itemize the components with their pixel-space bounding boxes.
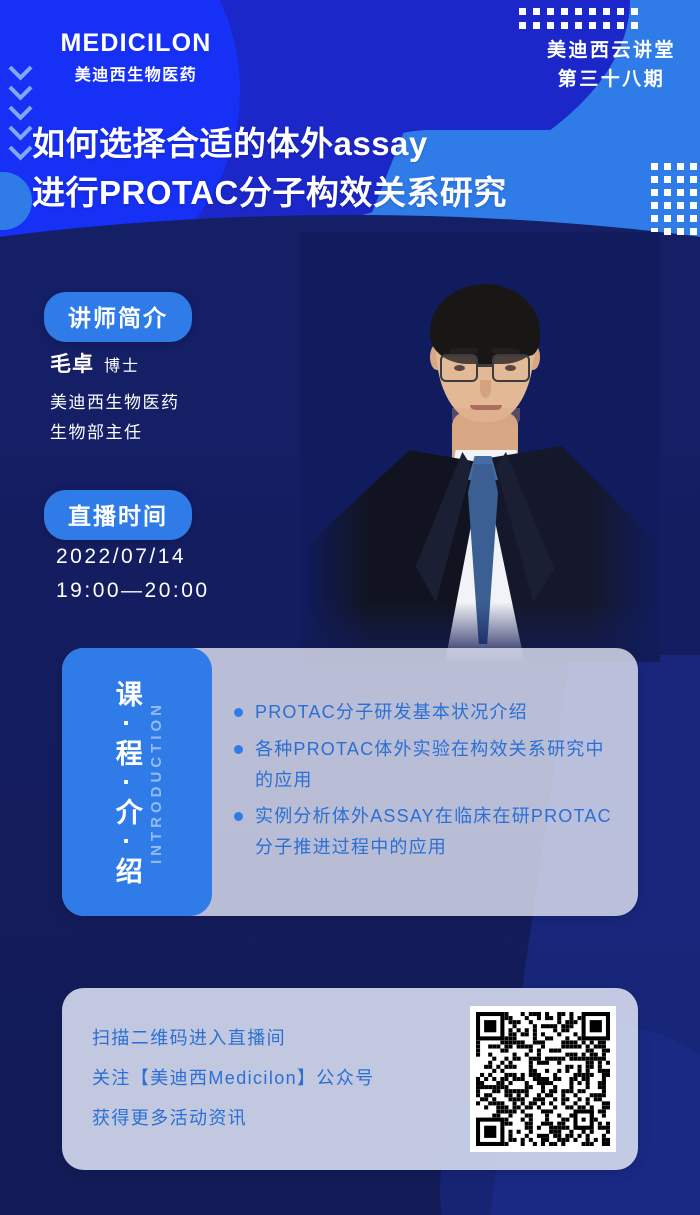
course-tab: 课·程·介·绍 INTRODUCTION	[62, 648, 212, 916]
course-tab-label-en: INTRODUCTION	[148, 701, 165, 864]
chevron-down-icon	[8, 138, 34, 155]
portrait-hair-side-left	[432, 310, 460, 354]
glasses-lens-right	[492, 354, 530, 382]
series-line-1: 美迪西云讲堂	[547, 36, 676, 65]
bullet-dot-icon	[234, 745, 243, 754]
bullet-dot-icon	[234, 708, 243, 717]
course-introduction-card: 课·程·介·绍 INTRODUCTION PROTAC分子研发基本状况介绍 各种…	[62, 648, 638, 916]
dot	[664, 176, 671, 183]
chevron-down-icon	[8, 118, 34, 135]
portrait-fade-right	[590, 232, 660, 662]
webinar-poster: MEDICILON 美迪西生物医药 美迪西云讲堂 第三十八期 如何选择合适的体外…	[0, 0, 700, 1215]
dot	[690, 202, 697, 209]
dot	[533, 8, 540, 15]
speaker-section-badge: 讲师简介	[44, 292, 192, 342]
speaker-details: 毛卓博士 美迪西生物医药 生物部主任	[50, 348, 180, 448]
course-bullet-list: PROTAC分子研发基本状况介绍 各种PROTAC体外实验在构效关系研究中的应用…	[212, 648, 638, 916]
dot	[690, 163, 697, 170]
speaker-degree: 博士	[104, 358, 140, 375]
list-item-label: 实例分析体外ASSAY在临床在研PROTAC分子推进过程中的应用	[255, 801, 620, 863]
qr-code[interactable]	[470, 1006, 616, 1152]
live-time: 19:00—20:00	[56, 574, 210, 608]
dot	[651, 202, 658, 209]
dot	[547, 22, 554, 29]
dot	[589, 8, 596, 15]
series-line-2: 第三十八期	[547, 65, 676, 94]
dot	[651, 189, 658, 196]
brand-name-en: MEDICILON	[36, 30, 236, 56]
dot	[690, 189, 697, 196]
series-label: 美迪西云讲堂 第三十八期	[547, 36, 676, 95]
chevron-down-icon-group	[8, 58, 34, 155]
live-time-badge: 直播时间	[44, 490, 192, 540]
dot	[664, 228, 671, 235]
dot	[617, 22, 624, 29]
dot	[651, 176, 658, 183]
chevron-down-icon	[8, 58, 34, 75]
dot	[664, 189, 671, 196]
chevron-down-icon	[8, 78, 34, 95]
list-item: PROTAC分子研发基本状况介绍	[234, 697, 620, 728]
dot	[690, 228, 697, 235]
chevron-down-icon	[8, 98, 34, 115]
speaker-name: 毛卓	[50, 353, 94, 376]
dot	[617, 8, 624, 15]
dot	[677, 189, 684, 196]
live-time-details: 2022/07/14 19:00—20:00	[56, 540, 210, 608]
dot	[677, 202, 684, 209]
speaker-company: 美迪西生物医药	[50, 388, 180, 418]
brand-name-cn: 美迪西生物医药	[36, 61, 236, 85]
dot	[664, 202, 671, 209]
dot	[519, 22, 526, 29]
page-title: 如何选择合适的体外assay 进行PROTAC分子构效关系研究	[32, 120, 507, 218]
dot	[519, 8, 526, 15]
course-tab-label-cn: 课·程·介·绍	[109, 680, 144, 885]
speaker-role: 生物部主任	[50, 418, 180, 448]
dot	[533, 22, 540, 29]
list-item: 实例分析体外ASSAY在临床在研PROTAC分子推进过程中的应用	[234, 801, 620, 863]
qr-instructions: 扫描二维码进入直播间 关注【美迪西Medicilon】公众号 获得更多活动资讯	[92, 1019, 470, 1139]
dot	[589, 22, 596, 29]
title-line-2: 进行PROTAC分子构效关系研究	[32, 169, 507, 218]
speaker-name-row: 毛卓博士	[50, 348, 180, 378]
dot	[664, 215, 671, 222]
dot-grid-top	[519, 8, 645, 36]
dot	[561, 22, 568, 29]
qr-line-2: 关注【美迪西Medicilon】公众号	[92, 1059, 470, 1099]
title-line-1: 如何选择合适的体外assay	[32, 120, 507, 169]
qr-cta-card: 扫描二维码进入直播间 关注【美迪西Medicilon】公众号 获得更多活动资讯	[62, 988, 638, 1170]
dot	[664, 163, 671, 170]
dot	[561, 8, 568, 15]
dot	[690, 176, 697, 183]
dot	[547, 8, 554, 15]
glasses-bridge	[478, 364, 492, 367]
dot	[651, 215, 658, 222]
dot	[677, 163, 684, 170]
list-item-label: PROTAC分子研发基本状况介绍	[255, 697, 528, 728]
dot	[651, 163, 658, 170]
glasses-lens-left	[440, 354, 478, 382]
dot	[690, 215, 697, 222]
dot	[631, 8, 638, 15]
qr-line-1: 扫描二维码进入直播间	[92, 1019, 470, 1059]
qr-line-3: 获得更多活动资讯	[92, 1099, 470, 1139]
portrait-fade-left	[300, 232, 370, 662]
dot-grid-right	[651, 163, 700, 241]
list-item-label: 各种PROTAC体外实验在构效关系研究中的应用	[255, 734, 620, 796]
dot	[677, 215, 684, 222]
dot	[677, 228, 684, 235]
dot	[677, 176, 684, 183]
portrait-nose	[480, 380, 491, 398]
speaker-portrait	[300, 232, 660, 662]
list-item: 各种PROTAC体外实验在构效关系研究中的应用	[234, 734, 620, 796]
qr-code-image[interactable]	[476, 1012, 610, 1146]
dot	[575, 22, 582, 29]
dot	[631, 22, 638, 29]
dot	[603, 8, 610, 15]
portrait-mouth	[470, 405, 502, 410]
brand-logo: MEDICILON 美迪西生物医药	[36, 30, 236, 85]
bullet-dot-icon	[234, 812, 243, 821]
portrait-chin	[452, 408, 520, 430]
dot	[575, 8, 582, 15]
live-date: 2022/07/14	[56, 540, 210, 574]
dot	[603, 22, 610, 29]
